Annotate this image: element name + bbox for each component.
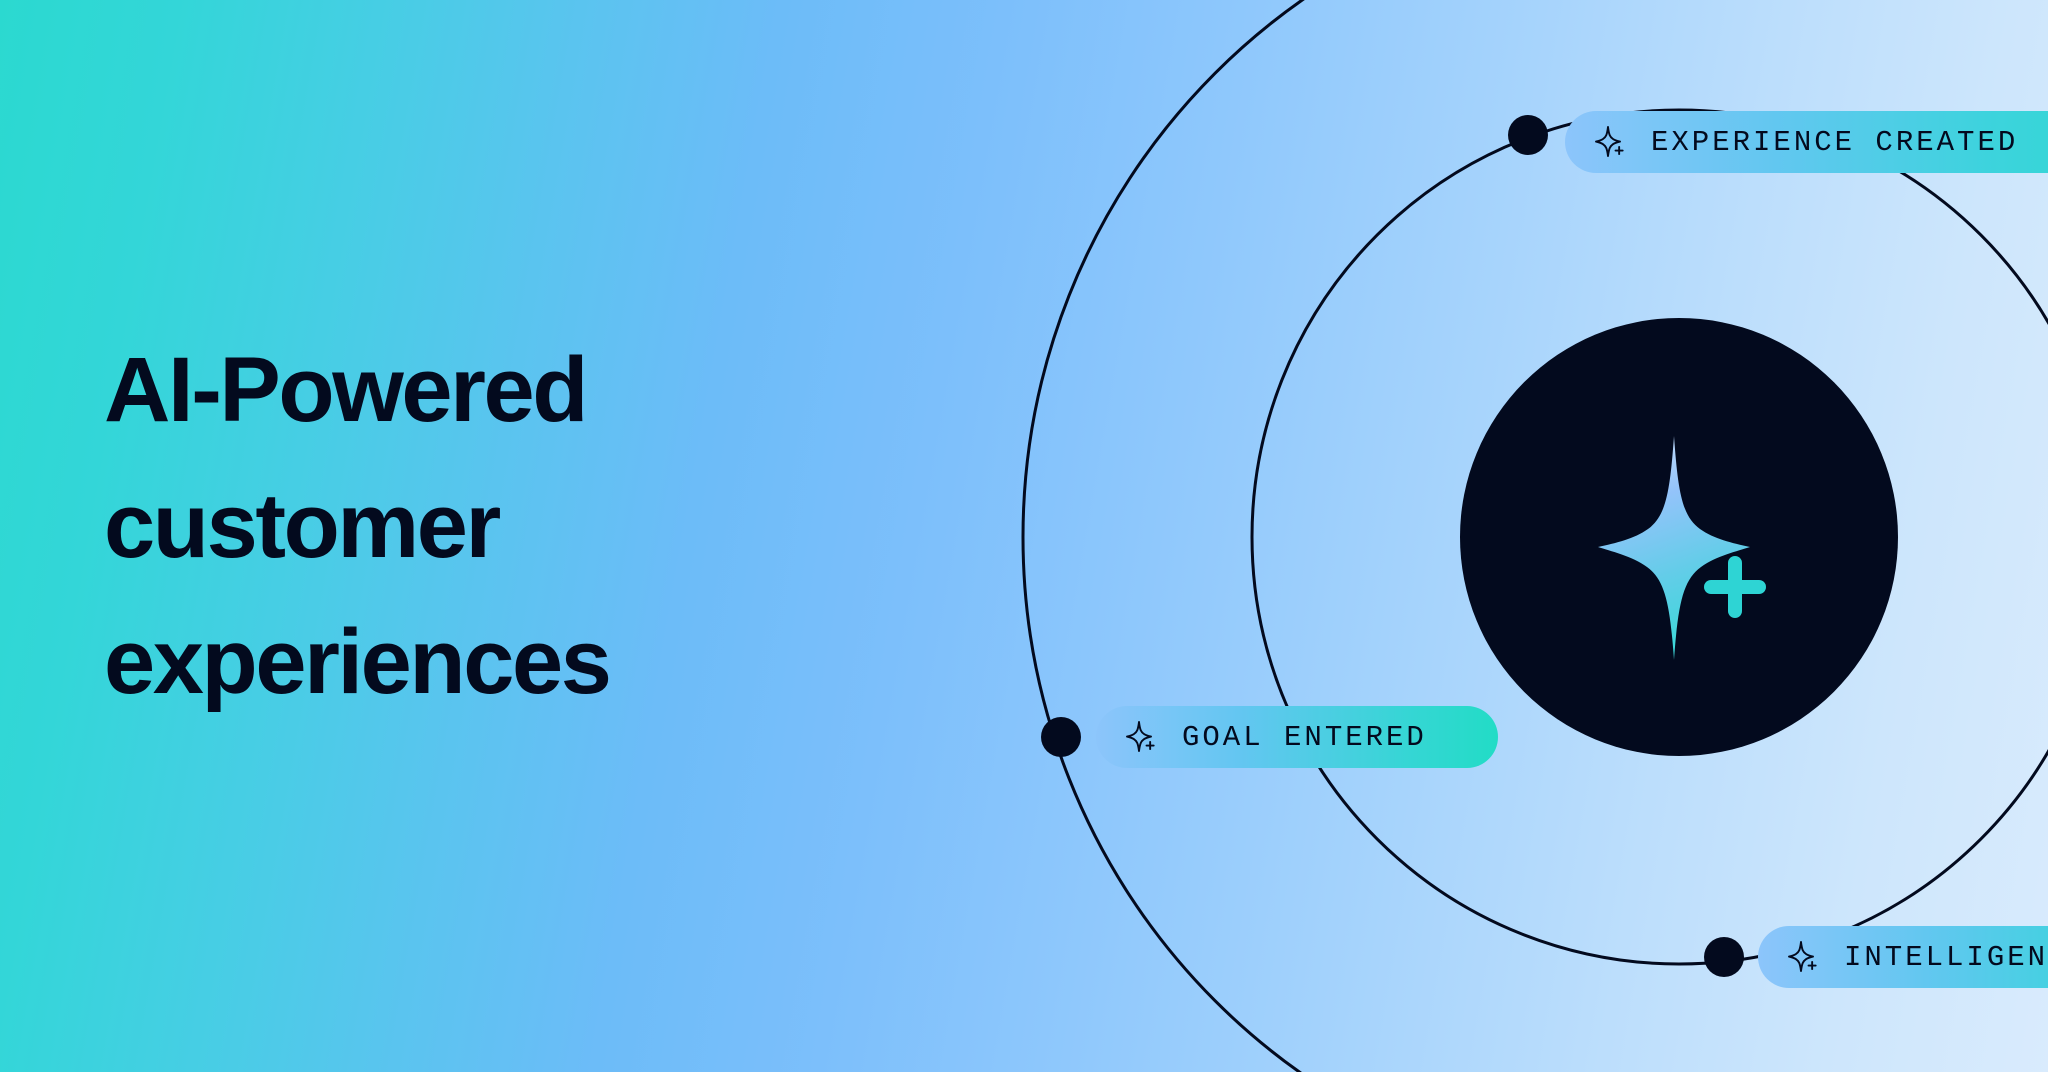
- plus-icon: [1704, 556, 1766, 618]
- badge-label-experience-created: EXPERIENCE CREATED: [1651, 126, 2018, 159]
- sparkle-plus-icon: [1595, 125, 1629, 159]
- sparkle-plus-icon: [1126, 720, 1160, 754]
- orbit-node-goal: [1041, 717, 1081, 757]
- headline-line-1: AI-Powered: [104, 322, 944, 458]
- headline-line-3: experiences: [104, 594, 944, 730]
- sparkle-star-icon: [1598, 436, 1750, 660]
- sparkle-plus-icon: [1788, 940, 1822, 974]
- status-badge-intelligent-routing[interactable]: INTELLIGENT ROUTING: [1758, 926, 2048, 988]
- ai-hero-banner: EXPERIENCE CREATED GOAL ENTERED INTELLIG…: [0, 0, 2048, 1072]
- core-glyph-group: [1460, 318, 1898, 756]
- badge-label-intelligent-routing: INTELLIGENT ROUTING: [1844, 941, 2048, 974]
- headline-line-2: customer: [104, 458, 944, 594]
- orbit-node-intelligent: [1704, 937, 1744, 977]
- badge-label-goal-entered: GOAL ENTERED: [1182, 721, 1427, 754]
- status-badge-goal-entered[interactable]: GOAL ENTERED: [1096, 706, 1498, 768]
- orbit-node-experience: [1508, 115, 1548, 155]
- ai-core-disc: [1460, 318, 1898, 756]
- page-title: AI-Powered customer experiences: [104, 322, 944, 730]
- status-badge-experience-created[interactable]: EXPERIENCE CREATED: [1565, 111, 2048, 173]
